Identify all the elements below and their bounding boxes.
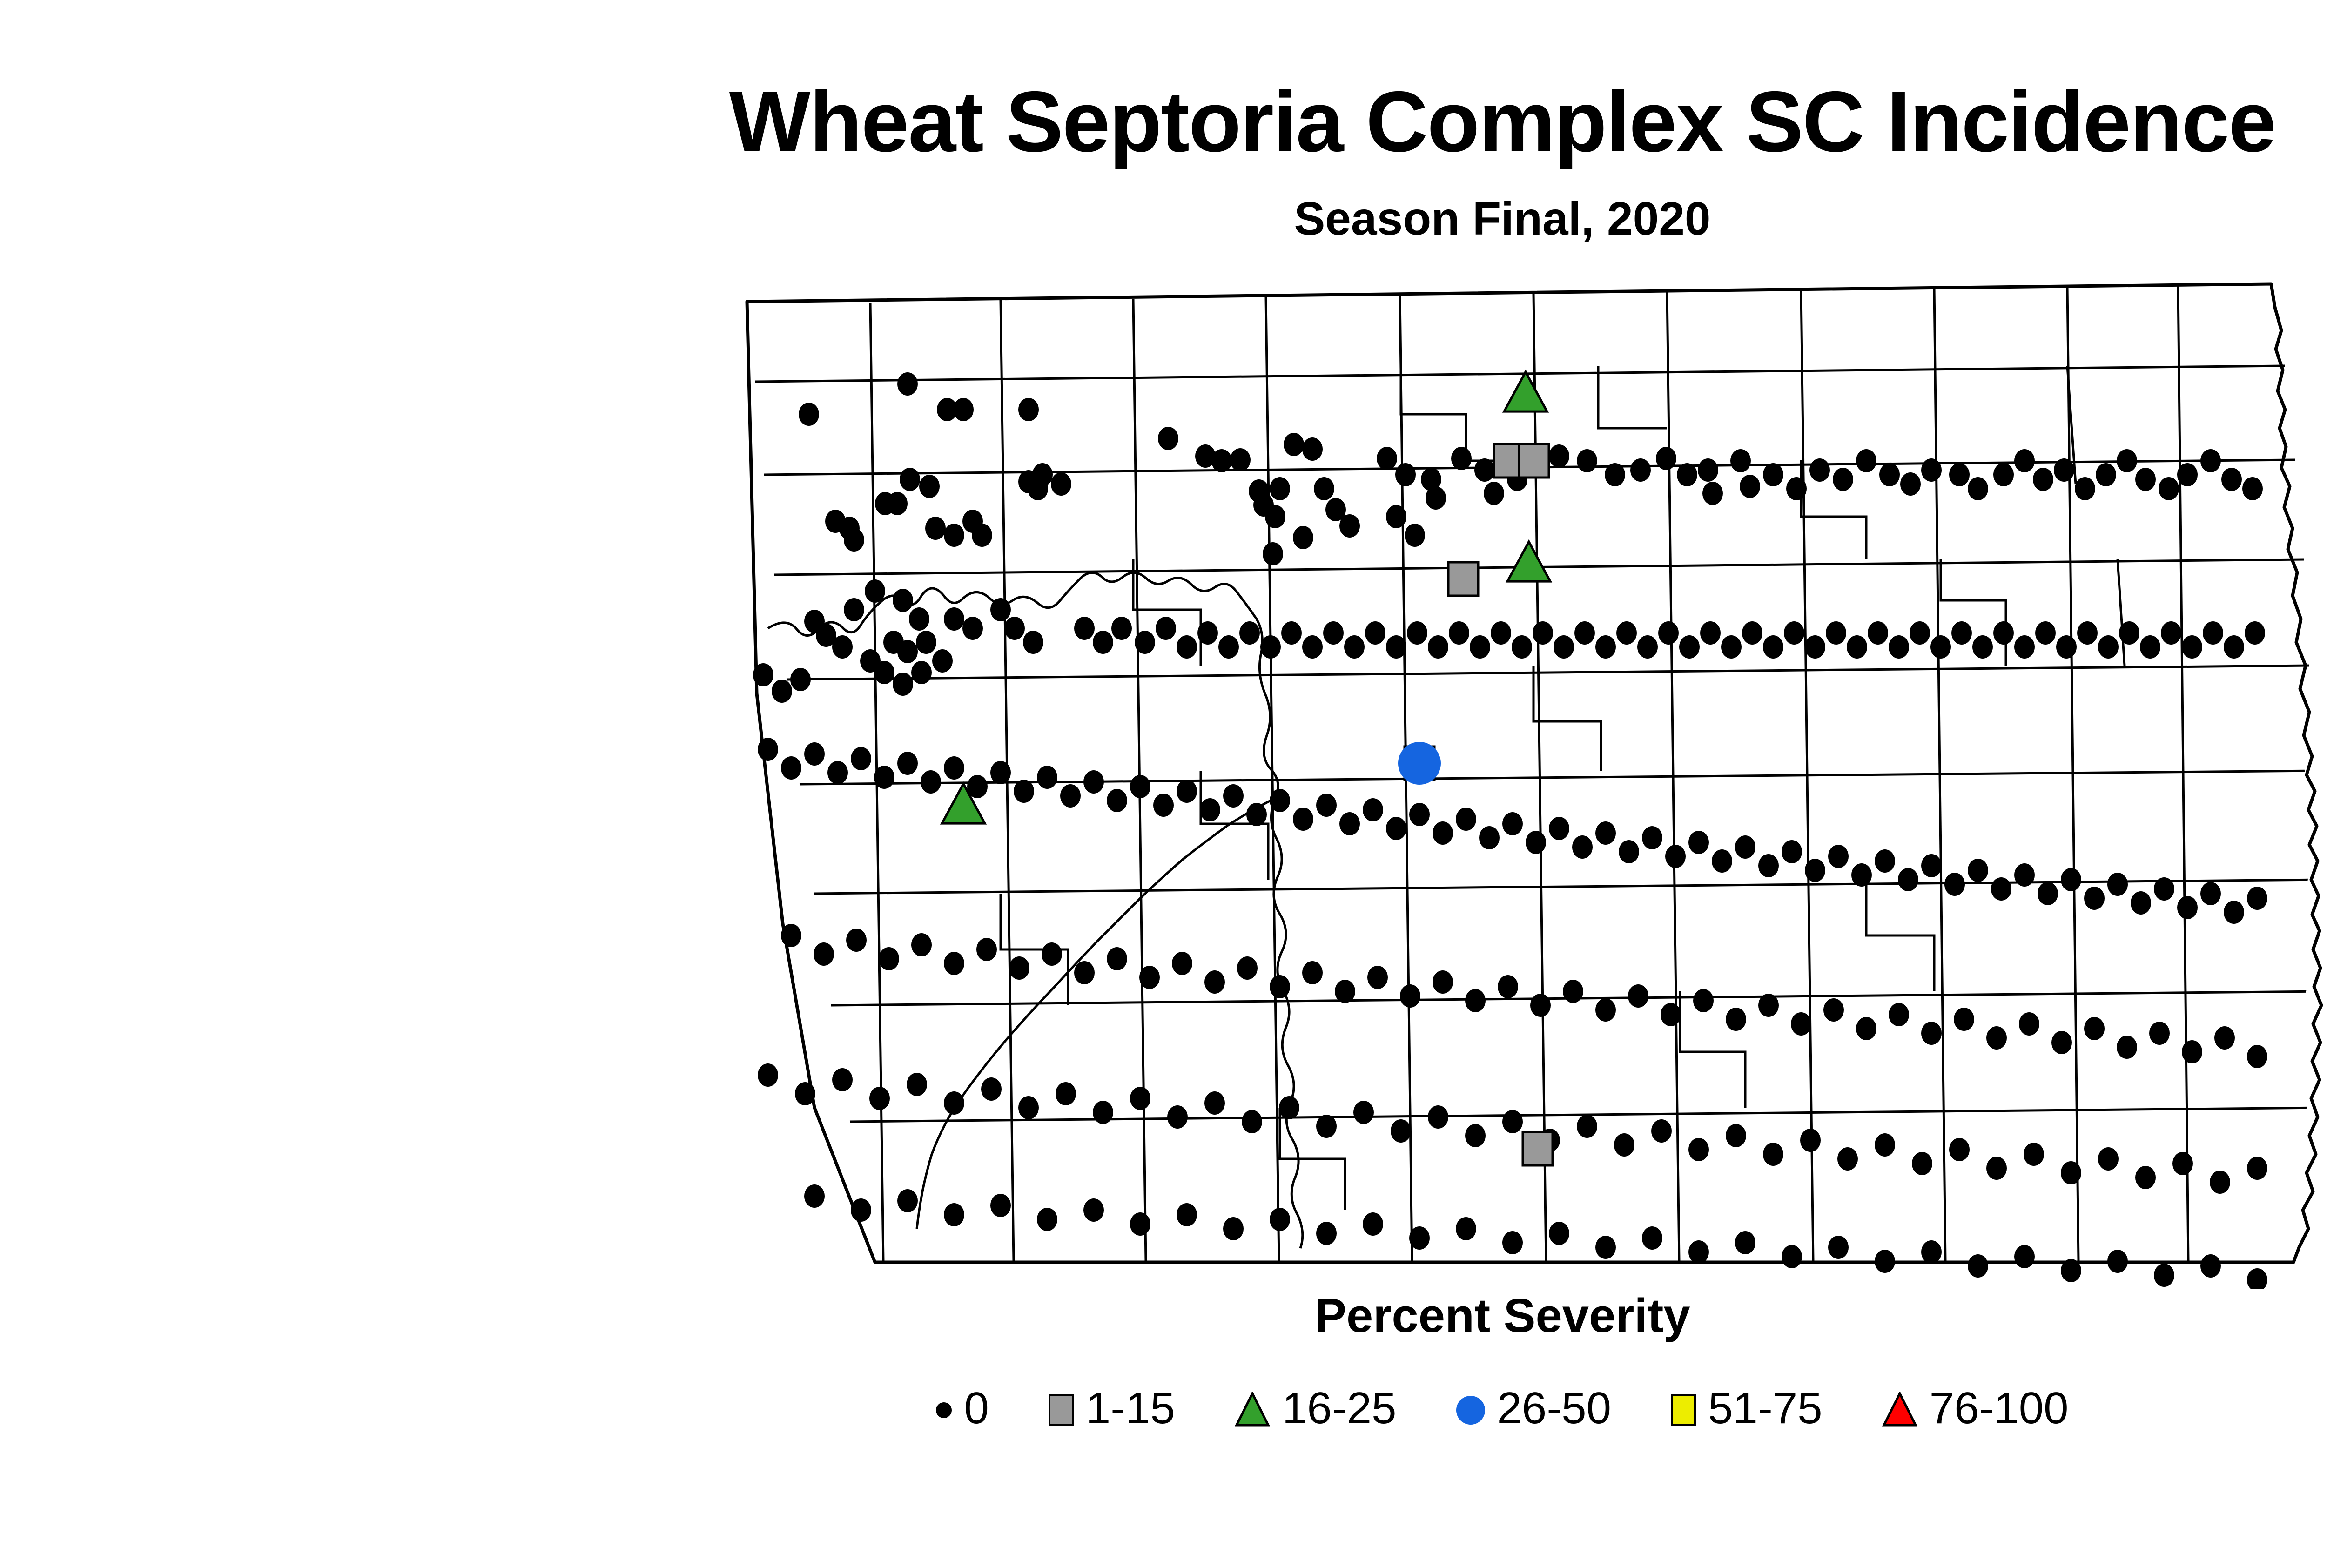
data-point — [772, 680, 792, 703]
data-point — [2035, 621, 2056, 645]
legend-item-0[interactable]: 0 — [936, 1385, 989, 1436]
data-point — [897, 1189, 918, 1212]
data-point — [1763, 1143, 1783, 1166]
data-point — [990, 761, 1011, 784]
data-point — [2172, 1152, 2193, 1175]
data-point — [1637, 635, 1658, 659]
data-point — [1153, 794, 1174, 817]
data-point — [1530, 994, 1551, 1017]
data-point — [1628, 984, 1648, 1008]
legend-item-51-75[interactable]: 51-75 — [1671, 1385, 1823, 1436]
data-point — [1921, 1240, 1942, 1264]
data-point — [844, 528, 864, 552]
data-point — [1898, 868, 1918, 891]
data-point — [1237, 956, 1258, 980]
data-point — [1270, 789, 1290, 812]
data-point — [2224, 901, 2244, 924]
data-point — [1502, 812, 1523, 835]
data-point — [1293, 808, 1313, 831]
data-point — [1263, 542, 1283, 565]
data-point — [1688, 831, 1709, 854]
data-point — [887, 492, 908, 515]
data-point — [2107, 1250, 2128, 1273]
yellow-square-icon — [1671, 1394, 1696, 1426]
data-point — [2224, 635, 2244, 659]
data-point — [1721, 635, 1742, 659]
data-point — [1060, 784, 1081, 808]
data-point — [1172, 952, 1192, 975]
black-dot-icon — [936, 1402, 952, 1418]
data-point — [846, 929, 867, 952]
data-point — [1223, 1217, 1244, 1240]
data-point — [1642, 1226, 1662, 1250]
data-point — [900, 468, 920, 491]
data-point — [1605, 463, 1625, 486]
data-point — [1595, 998, 1616, 1022]
data-point — [990, 1194, 1011, 1217]
data-point — [1826, 621, 1846, 645]
data-point — [921, 770, 941, 794]
data-point — [781, 924, 801, 947]
data-point — [874, 766, 894, 789]
data-point — [2075, 477, 2095, 500]
data-point — [1595, 635, 1616, 659]
data-point — [1456, 1217, 1476, 1240]
data-point — [944, 952, 964, 975]
data-point — [1837, 1147, 1858, 1171]
data-point — [1037, 1208, 1057, 1231]
data-point — [1875, 849, 1895, 873]
data-point — [925, 517, 946, 540]
data-point — [1986, 1026, 2007, 1050]
data-point — [1968, 1254, 1988, 1278]
data-point — [879, 947, 899, 970]
data-point — [758, 738, 778, 761]
data-point — [909, 607, 929, 631]
data-point — [1479, 826, 1500, 849]
data-point — [1968, 477, 1988, 500]
data-point — [953, 398, 974, 421]
data-point — [1230, 448, 1251, 471]
data-point — [1018, 398, 1039, 421]
data-point — [1177, 635, 1197, 659]
data-point — [2221, 468, 2242, 491]
data-point — [962, 617, 983, 640]
data-point — [1316, 1222, 1337, 1245]
data-point — [804, 1184, 825, 1208]
red-triangle-icon — [1882, 1392, 1917, 1429]
data-point — [2245, 621, 2265, 645]
data-point — [2149, 1022, 2170, 1045]
data-point — [1484, 482, 1504, 505]
data-point — [1107, 789, 1127, 812]
data-point — [2054, 458, 2074, 482]
data-point — [897, 752, 918, 775]
data-point — [1791, 1012, 1811, 1036]
data-point — [1409, 1226, 1430, 1250]
data-point — [1363, 798, 1383, 821]
data-point — [1951, 621, 1972, 645]
data-point — [1386, 817, 1406, 840]
legend-label: 51-75 — [1708, 1386, 1823, 1431]
data-point — [1847, 635, 1867, 659]
data-point — [804, 742, 825, 766]
data-point — [2038, 882, 2058, 905]
data-point — [1782, 840, 1802, 863]
data-point — [1642, 826, 1662, 849]
data-point — [916, 631, 936, 654]
data-point — [1167, 1105, 1188, 1129]
data-point — [944, 1091, 964, 1115]
gray-square-icon — [1049, 1394, 1074, 1426]
data-point — [1407, 621, 1427, 645]
data-point — [1595, 821, 1616, 845]
data-point — [2061, 1161, 2081, 1184]
data-point — [1910, 621, 1930, 645]
data-point — [911, 933, 932, 956]
legend-item-16-25[interactable]: 16-25 — [1235, 1385, 1397, 1436]
data-point — [874, 661, 894, 684]
data-point — [1563, 980, 1583, 1003]
data-point — [1949, 1138, 1970, 1161]
data-point — [799, 403, 819, 426]
map-figure: Wheat Septoria Complex SC Incidence Seas… — [0, 0, 2327, 1568]
legend-item-76-100[interactable]: 76-100 — [1882, 1385, 2069, 1436]
data-point — [1449, 621, 1469, 645]
north-dakota-map[interactable] — [675, 275, 2327, 1289]
data-point — [1433, 970, 1453, 994]
legend-label: 76-100 — [1930, 1386, 2069, 1431]
data-point — [1281, 621, 1302, 645]
data-point — [1875, 1133, 1895, 1157]
data-point — [781, 756, 801, 780]
green-triangle-icon — [1235, 1392, 1270, 1429]
data-point — [1735, 835, 1755, 859]
data-point — [1130, 1087, 1150, 1110]
data-point — [1177, 1203, 1197, 1226]
data-point — [1526, 831, 1546, 854]
data-point — [1533, 621, 1553, 645]
data-point — [1339, 514, 1360, 538]
data-point — [893, 589, 913, 612]
data-point — [2051, 1031, 2072, 1054]
data-point — [972, 524, 992, 547]
data-point — [2200, 1254, 2221, 1278]
data-point — [1805, 859, 1825, 882]
data-point — [1549, 1222, 1569, 1245]
data-point — [1037, 766, 1057, 789]
data-point — [1386, 635, 1406, 659]
page-title: Wheat Septoria Complex SC Incidence — [0, 79, 2327, 165]
data-point — [1042, 942, 1062, 966]
data-point — [1833, 468, 1853, 491]
data-point — [1726, 1124, 1746, 1147]
data-point — [1968, 859, 1988, 882]
data-point — [1712, 849, 1732, 873]
data-point — [1218, 635, 1239, 659]
data-point — [1630, 458, 1651, 482]
data-point — [2061, 1259, 2081, 1282]
data-point — [1763, 635, 1783, 659]
data-point — [1993, 621, 2014, 645]
data-point — [1574, 621, 1595, 645]
data-point — [2177, 896, 2198, 919]
data-point — [1284, 433, 1304, 456]
data-point — [893, 673, 913, 696]
data-point — [2210, 1171, 2230, 1194]
data-point — [981, 1077, 1002, 1101]
data-point — [1409, 803, 1430, 826]
data-point — [1758, 854, 1779, 877]
data-point — [1491, 621, 1511, 645]
data-point-1-15 — [1448, 562, 1478, 596]
data-point — [1700, 621, 1721, 645]
data-point — [1944, 873, 1965, 896]
data-point — [911, 661, 932, 684]
data-point — [1679, 635, 1700, 659]
data-point — [1875, 1250, 1895, 1273]
data-point — [1465, 989, 1486, 1012]
data-point — [1395, 463, 1416, 486]
data-point — [1577, 1115, 1597, 1138]
data-point — [1474, 458, 1495, 482]
data-point — [907, 1073, 927, 1096]
data-point — [1428, 1105, 1448, 1129]
data-point — [1265, 505, 1285, 528]
data-point-1-15 — [1523, 1132, 1553, 1165]
data-point — [2098, 1147, 2119, 1171]
data-point — [2242, 477, 2263, 500]
data-point — [1851, 863, 1872, 887]
data-point — [1693, 989, 1714, 1012]
data-point — [1577, 449, 1597, 472]
data-point — [2019, 1012, 2039, 1036]
data-point — [1726, 1008, 1746, 1031]
data-point — [1889, 635, 1909, 659]
data-point — [1658, 621, 1679, 645]
data-point — [1051, 472, 1071, 496]
data-point — [1954, 1008, 1974, 1031]
data-point — [1742, 621, 1762, 645]
data-point — [2056, 635, 2077, 659]
data-point — [1083, 770, 1104, 794]
data-point — [1018, 1096, 1039, 1119]
data-point — [844, 598, 864, 621]
data-point — [1456, 808, 1476, 831]
data-point — [1014, 780, 1034, 803]
data-point — [1353, 1101, 1374, 1124]
data-point — [1200, 798, 1220, 821]
data-point — [1344, 635, 1365, 659]
data-point — [1856, 1017, 1876, 1040]
data-point — [1056, 1082, 1076, 1105]
data-point — [1279, 1096, 1299, 1119]
data-point — [2135, 468, 2156, 491]
data-point — [1314, 477, 1334, 500]
data-point — [1949, 463, 1970, 486]
data-point — [944, 524, 964, 547]
data-point — [1800, 1129, 1821, 1152]
data-point — [1130, 775, 1150, 798]
data-point — [1740, 475, 1760, 498]
data-point — [2117, 449, 2137, 472]
data-point — [1204, 1091, 1225, 1115]
data-point — [1204, 970, 1225, 994]
data-point — [865, 579, 885, 603]
data-point — [1302, 961, 1323, 984]
data-point — [1093, 631, 1113, 654]
data-point — [990, 598, 1011, 621]
data-point — [1270, 975, 1290, 998]
data-point — [1930, 635, 1951, 659]
data-point — [1614, 1133, 1634, 1157]
page-subtitle: Season Final, 2020 — [0, 195, 2327, 242]
data-point — [976, 938, 997, 961]
data-point — [1991, 877, 2011, 901]
data-point — [897, 640, 918, 663]
data-point — [1107, 947, 1127, 970]
data-point — [1270, 477, 1290, 500]
data-point — [2161, 621, 2181, 645]
data-point — [2247, 1157, 2267, 1180]
data-point — [1260, 635, 1281, 659]
data-point — [1986, 1157, 2007, 1180]
data-point — [1242, 1110, 1262, 1133]
data-point — [2214, 1026, 2235, 1050]
data-point — [1572, 835, 1593, 859]
data-point — [2247, 887, 2267, 910]
data-point-26-50 — [1398, 742, 1441, 785]
data-point — [1428, 635, 1448, 659]
data-point — [2182, 1040, 2202, 1063]
data-point — [2154, 877, 2174, 901]
data-point — [1246, 803, 1267, 826]
data-point — [832, 1068, 853, 1091]
data-point — [2014, 449, 2035, 472]
data-point — [2119, 621, 2139, 645]
data-point — [1083, 1198, 1104, 1222]
data-point — [1367, 966, 1388, 989]
data-point — [1823, 998, 1844, 1022]
data-point — [2033, 468, 2053, 491]
data-point — [1400, 984, 1420, 1008]
data-point — [1784, 621, 1804, 645]
data-point — [2247, 1268, 2267, 1289]
data-point — [1156, 617, 1176, 640]
data-point — [2200, 449, 2221, 472]
data-point — [2135, 1166, 2156, 1189]
data-point — [1239, 621, 1260, 645]
data-point — [1074, 961, 1095, 984]
data-point — [2107, 873, 2128, 896]
data-point — [1426, 486, 1446, 510]
data-point — [1074, 617, 1095, 640]
data-point — [919, 475, 940, 498]
data-point — [2077, 621, 2098, 645]
data-point — [1465, 1124, 1486, 1147]
data-point — [2159, 477, 2179, 500]
data-point — [1619, 840, 1639, 863]
data-point — [1093, 1101, 1113, 1124]
data-point — [1868, 621, 1888, 645]
data-point — [2084, 887, 2105, 910]
data-point — [1158, 427, 1178, 450]
data-point — [1365, 621, 1385, 645]
data-point — [1391, 1119, 1411, 1143]
legend-item-1-15[interactable]: 1-15 — [1049, 1385, 1175, 1436]
legend-title: Percent Severity — [0, 1292, 2327, 1339]
data-point — [1554, 635, 1574, 659]
data-point — [1293, 526, 1313, 549]
data-point — [1595, 1236, 1616, 1259]
data-point — [1386, 505, 1406, 528]
data-point — [753, 663, 773, 686]
data-point — [1809, 458, 1830, 482]
data-point — [2084, 1017, 2105, 1040]
data-point — [1702, 482, 1723, 505]
blue-circle-icon — [1456, 1396, 1485, 1425]
data-point — [1004, 617, 1025, 640]
data-point — [1828, 1236, 1849, 1259]
legend-label: 26-50 — [1497, 1386, 1612, 1431]
data-point — [1302, 635, 1323, 659]
data-point — [1223, 784, 1244, 808]
data-point — [1498, 975, 1518, 998]
data-point — [1502, 1110, 1523, 1133]
data-point — [944, 607, 964, 631]
data-point — [1656, 447, 1676, 470]
map-svg — [675, 275, 2327, 1289]
data-point — [1661, 1003, 1681, 1026]
data-point — [1211, 449, 1232, 472]
data-point — [1805, 635, 1825, 659]
data-point — [851, 747, 871, 770]
data-point — [1735, 1231, 1755, 1254]
data-point — [1502, 1231, 1523, 1254]
data-point — [1512, 635, 1532, 659]
data-point — [944, 1203, 964, 1226]
data-point — [1470, 635, 1490, 659]
legend-item-26-50[interactable]: 26-50 — [1456, 1385, 1612, 1436]
data-point — [1197, 621, 1218, 645]
data-point — [790, 668, 811, 691]
data-point — [2203, 621, 2223, 645]
data-point — [2182, 635, 2202, 659]
data-point — [1912, 1152, 1932, 1175]
data-point — [2024, 1143, 2044, 1166]
data-point — [1688, 1138, 1709, 1161]
data-point — [1270, 1208, 1290, 1231]
legend: 01-1516-2526-5051-7576-100 — [0, 1385, 2327, 1454]
data-point — [1665, 845, 1686, 868]
data-point — [1688, 1240, 1709, 1264]
data-point — [1900, 472, 1921, 496]
data-point — [814, 942, 834, 966]
data-point — [1921, 458, 1942, 482]
data-point — [1972, 635, 1993, 659]
data-point — [1302, 437, 1323, 461]
data-point — [1856, 449, 1876, 472]
data-point — [1023, 631, 1043, 654]
data-point — [869, 1087, 890, 1110]
data-point — [2014, 863, 2035, 887]
data-point — [1786, 477, 1807, 500]
data-point — [795, 1082, 815, 1105]
data-point — [2098, 635, 2119, 659]
data-point-1-15 — [1519, 444, 1549, 478]
data-point — [1405, 524, 1425, 547]
data-point — [758, 1063, 778, 1087]
